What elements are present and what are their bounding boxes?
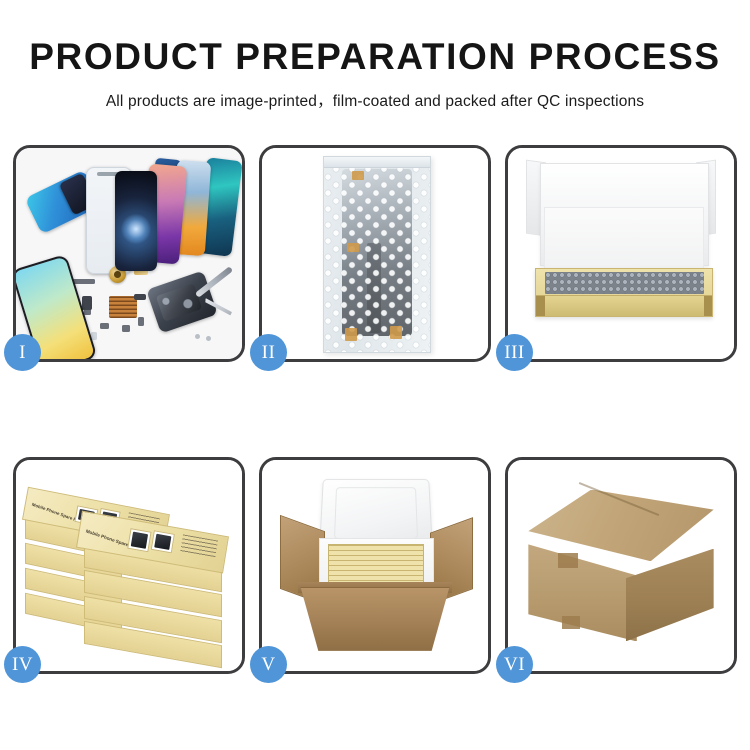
step-badge-4: IV <box>4 646 41 683</box>
step-badge-6: VI <box>496 646 533 683</box>
flex-cable-icon <box>82 296 92 310</box>
step-5-image <box>262 460 488 671</box>
step-badge-1: I <box>4 334 41 371</box>
process-step-3: III <box>505 145 737 362</box>
screw-icon <box>195 334 200 339</box>
carton-front-face-icon <box>528 544 636 641</box>
bubble-texture-icon <box>324 157 430 351</box>
page-header: PRODUCT PREPARATION PROCESS All products… <box>0 0 750 111</box>
step-2-image <box>262 148 488 359</box>
foam-sheet-icon <box>544 207 704 277</box>
chip-part-icon <box>73 279 95 284</box>
lid-text-lines <box>181 535 219 559</box>
tray-corner-icon <box>704 296 713 315</box>
step-badge-3: III <box>496 334 533 371</box>
page-title: PRODUCT PREPARATION PROCESS <box>0 38 750 75</box>
step-4-image: Mobile Phone Spare Parts Mobile Phone Sp… <box>16 460 242 671</box>
process-step-1: I <box>13 145 245 362</box>
small-chip-icon <box>100 323 109 329</box>
kraft-tray-icon <box>535 268 713 316</box>
step-3-image <box>508 148 734 359</box>
tray-front-panel-icon <box>536 295 712 315</box>
tape-seal-icon <box>345 328 357 341</box>
tape-patch-icon <box>562 616 580 629</box>
process-step-2: II <box>259 145 491 362</box>
page-subtitle: All products are image-printed，film-coat… <box>0 89 750 111</box>
bubble-wrap-bag-icon <box>323 156 431 352</box>
carton-side-face-icon <box>626 549 714 642</box>
process-step-5: V <box>259 457 491 674</box>
lid-phone-image <box>151 530 175 554</box>
phone-display-icon <box>115 171 157 271</box>
tape-seal-icon <box>390 326 402 339</box>
stacked-boxes-icon: Mobile Phone Spare Parts Mobile Phone Sp… <box>16 460 242 671</box>
open-carton-icon <box>300 587 449 651</box>
process-step-6: VI <box>505 457 737 674</box>
small-chip-icon <box>138 317 144 326</box>
tape-patch-icon <box>558 553 578 568</box>
tape-seal-icon <box>347 243 359 252</box>
small-chip-icon <box>122 325 130 332</box>
flex-cable-icon <box>134 294 146 300</box>
step-6-image <box>508 460 734 671</box>
screw-icon <box>206 336 211 341</box>
box-edges-icon <box>329 545 424 587</box>
step-badge-2: II <box>250 334 287 371</box>
step-badge-5: V <box>250 646 287 683</box>
gold-contact-icon <box>134 270 148 275</box>
lid-phone-image <box>128 528 152 552</box>
process-step-grid: I II <box>13 145 737 674</box>
tape-seal-icon <box>352 171 364 180</box>
process-step-4: Mobile Phone Spare Parts Mobile Phone Sp… <box>13 457 245 674</box>
bubble-wrapped-contents-icon <box>545 272 704 294</box>
step-1-image <box>16 148 242 359</box>
bag-seal-icon <box>324 157 430 168</box>
tray-corner-icon <box>536 296 545 315</box>
copper-mesh-part-icon <box>109 296 137 318</box>
